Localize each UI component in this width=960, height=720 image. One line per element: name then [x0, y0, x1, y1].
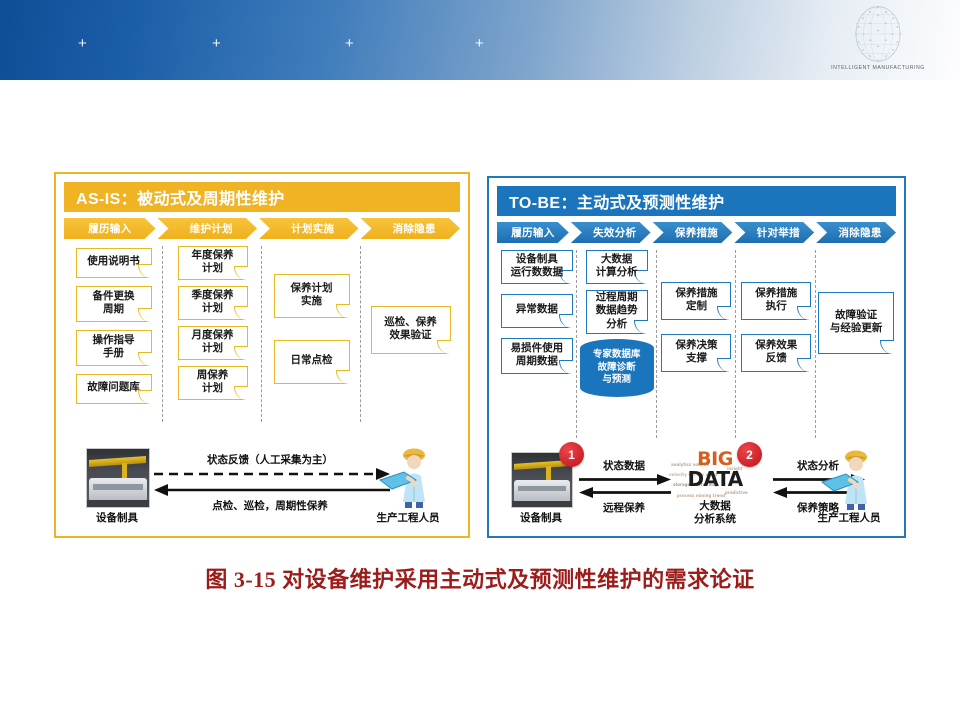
asis-note-2-4-label: 周保养计划: [197, 369, 229, 395]
asis-note-2-1[interactable]: 年度保养计划: [178, 246, 248, 280]
tobe-bigdata-label: 大数据分析系统: [667, 500, 763, 525]
plus-mark-3: +: [345, 36, 354, 51]
asis-top-arrow-label: 状态反馈（人工采集为主）: [160, 452, 380, 467]
asis-columns: 使用说明书 备件更换周期 操作指导手册 故障问题库 年度保养计划 季度保养计划 …: [64, 244, 460, 416]
tobe-note-2-2[interactable]: 过程周期数据趋势分析: [586, 290, 648, 334]
asis-column-4: 巡检、保养效果验证: [361, 244, 460, 416]
asis-note-4-1-label: 巡检、保养效果验证: [384, 316, 437, 342]
tobe-phase-3[interactable]: 保养措施: [653, 222, 733, 243]
tobe-left-arrow-top-label: 状态数据: [581, 458, 667, 473]
asis-note-1-3[interactable]: 操作指导手册: [76, 330, 152, 366]
tobe-note-3-2[interactable]: 保养决策支撑: [661, 334, 731, 372]
tobe-note-4-1-label: 保养措施执行: [755, 287, 797, 313]
tobe-column-2: 大数据计算分析 过程周期数据趋势分析 专家数据库故障诊断与预测: [577, 248, 657, 432]
tobe-note-1-2[interactable]: 异常数据: [501, 294, 573, 328]
tobe-left-arrow-forward: [579, 474, 671, 485]
tobe-note-1-1-label: 设备制具运行数数据: [511, 253, 564, 279]
tobe-flow: 设备制具 1 状态数据 远程保养 analytics volume veloci…: [497, 444, 896, 530]
tobe-note-2-2-label: 过程周期数据趋势分析: [596, 291, 638, 330]
asis-note-2-2[interactable]: 季度保养计划: [178, 286, 248, 320]
tobe-phase-4[interactable]: 针对举措: [734, 222, 814, 243]
tobe-note-4-2-label: 保养效果反馈: [755, 339, 797, 365]
asis-note-2-3[interactable]: 月度保养计划: [178, 326, 248, 360]
tobe-badge-2: 2: [737, 442, 762, 467]
tobe-note-1-1[interactable]: 设备制具运行数数据: [501, 250, 573, 284]
asis-note-2-2-label: 季度保养计划: [192, 289, 234, 315]
tobe-phase-row: 履历输入 失效分析 保养措施 针对举措 消除隐患: [497, 222, 896, 243]
asis-bottom-arrow-label: 点检、巡检，周期性保养: [160, 498, 380, 513]
tobe-left-arrow-back: [579, 487, 671, 498]
logo-block: INTELLIGENT MANUFACTURING: [818, 4, 938, 78]
tobe-note-4-2[interactable]: 保养效果反馈: [741, 334, 811, 372]
asis-bottom-arrow: [154, 484, 390, 496]
asis-note-1-1-label: 使用说明书: [87, 255, 140, 268]
tobe-note-1-3-label: 易损件使用周期数据: [511, 342, 564, 368]
tobe-phase-5[interactable]: 消除隐患: [816, 222, 896, 243]
asis-equipment-photo: [86, 448, 150, 508]
tobe-note-2-1[interactable]: 大数据计算分析: [586, 250, 648, 284]
asis-top-arrow: [154, 468, 390, 480]
asis-panel: AS-IS：被动式及周期性维护 履历输入 维护计划 计划实施 消除隐患 使用说明…: [54, 172, 470, 538]
asis-phase-row: 履历输入 维护计划 计划实施 消除隐患: [64, 218, 460, 239]
asis-note-1-2[interactable]: 备件更换周期: [76, 286, 152, 322]
asis-note-1-4-label: 故障问题库: [87, 381, 140, 394]
slide-root: + + + +: [0, 0, 960, 720]
tobe-panel: TO-BE：主动式及预测性维护 履历输入 失效分析 保养措施 针对举措 消除隐患…: [487, 176, 906, 538]
asis-note-2-1-label: 年度保养计划: [192, 249, 234, 275]
asis-note-3-2-label: 日常点检: [291, 354, 333, 367]
figure-caption: 图 3-15 对设备维护采用主动式及预测性维护的需求论证: [0, 562, 960, 594]
asis-note-2-4[interactable]: 周保养计划: [178, 366, 248, 400]
logo-text: INTELLIGENT MANUFACTURING: [831, 65, 925, 71]
network-sphere-icon: [851, 4, 905, 64]
tobe-phase-1[interactable]: 履历输入: [497, 222, 569, 243]
tobe-title: TO-BE：主动式及预测性维护: [497, 186, 896, 216]
tobe-engineer-icon: [820, 448, 880, 510]
asis-note-1-2-label: 备件更换周期: [93, 290, 135, 316]
asis-note-1-4[interactable]: 故障问题库: [76, 374, 152, 404]
tobe-note-3-1[interactable]: 保养措施定制: [661, 282, 731, 320]
tobe-left-arrow-bottom-label: 远程保养: [581, 500, 667, 515]
asis-note-2-3-label: 月度保养计划: [192, 329, 234, 355]
asis-phase-1[interactable]: 履历输入: [64, 218, 156, 239]
tobe-column-4: 保养措施执行 保养效果反馈: [736, 248, 816, 432]
tobe-columns: 设备制具运行数数据 异常数据 易损件使用周期数据 大数据计算分析 过程周期数据趋…: [497, 248, 896, 432]
asis-phase-4[interactable]: 消除隐患: [361, 218, 461, 239]
plus-mark-1: +: [78, 36, 87, 51]
asis-note-3-1-label: 保养计划实施: [291, 282, 333, 308]
bd-cloud-word-6: process mining trend: [677, 493, 725, 498]
header-banner: + + + +: [0, 0, 960, 80]
asis-note-1-3-label: 操作指导手册: [93, 334, 135, 360]
asis-phase-3[interactable]: 计划实施: [259, 218, 359, 239]
tobe-note-4-1[interactable]: 保养措施执行: [741, 282, 811, 320]
asis-flow: 设备制具 生产工程人员 状态反馈（人工采集为主）: [64, 442, 460, 530]
tobe-note-5-1-label: 故障验证与经验更新: [830, 309, 883, 335]
asis-column-1: 使用说明书 备件更换周期 操作指导手册 故障问题库: [64, 244, 163, 416]
tobe-engineer-label: 生产工程人员: [802, 510, 896, 525]
tobe-expert-database-label: 专家数据库故障诊断与预测: [593, 349, 641, 386]
asis-equipment-label: 设备制具: [76, 510, 158, 525]
tobe-note-2-1-label: 大数据计算分析: [596, 253, 638, 279]
asis-phase-2[interactable]: 维护计划: [158, 218, 258, 239]
tobe-note-5-1[interactable]: 故障验证与经验更新: [818, 292, 894, 354]
tobe-column-3: 保养措施定制 保养决策支撑: [657, 248, 737, 432]
asis-note-3-2[interactable]: 日常点检: [274, 340, 350, 384]
tobe-equipment-label: 设备制具: [501, 510, 581, 525]
big-data-bottom-word: DATA: [688, 467, 743, 491]
tobe-note-3-2-label: 保养决策支撑: [675, 339, 717, 365]
tobe-column-1: 设备制具运行数数据 异常数据 易损件使用周期数据: [497, 248, 577, 432]
tobe-phase-2[interactable]: 失效分析: [571, 222, 651, 243]
tobe-note-3-1-label: 保养措施定制: [675, 287, 717, 313]
plus-mark-2: +: [212, 36, 221, 51]
asis-column-2: 年度保养计划 季度保养计划 月度保养计划 周保养计划: [163, 244, 262, 416]
tobe-note-1-2-label: 异常数据: [516, 303, 558, 316]
plus-mark-4: +: [475, 36, 484, 51]
asis-note-4-1[interactable]: 巡检、保养效果验证: [371, 306, 451, 354]
asis-note-3-1[interactable]: 保养计划实施: [274, 274, 350, 318]
asis-note-1-1[interactable]: 使用说明书: [76, 248, 152, 278]
asis-title: AS-IS：被动式及周期性维护: [64, 182, 460, 212]
tobe-column-5: 故障验证与经验更新: [816, 248, 896, 432]
tobe-note-1-3[interactable]: 易损件使用周期数据: [501, 338, 573, 374]
tobe-expert-database[interactable]: 专家数据库故障诊断与预测: [580, 339, 654, 397]
asis-column-3: 保养计划实施 日常点检: [262, 244, 361, 416]
